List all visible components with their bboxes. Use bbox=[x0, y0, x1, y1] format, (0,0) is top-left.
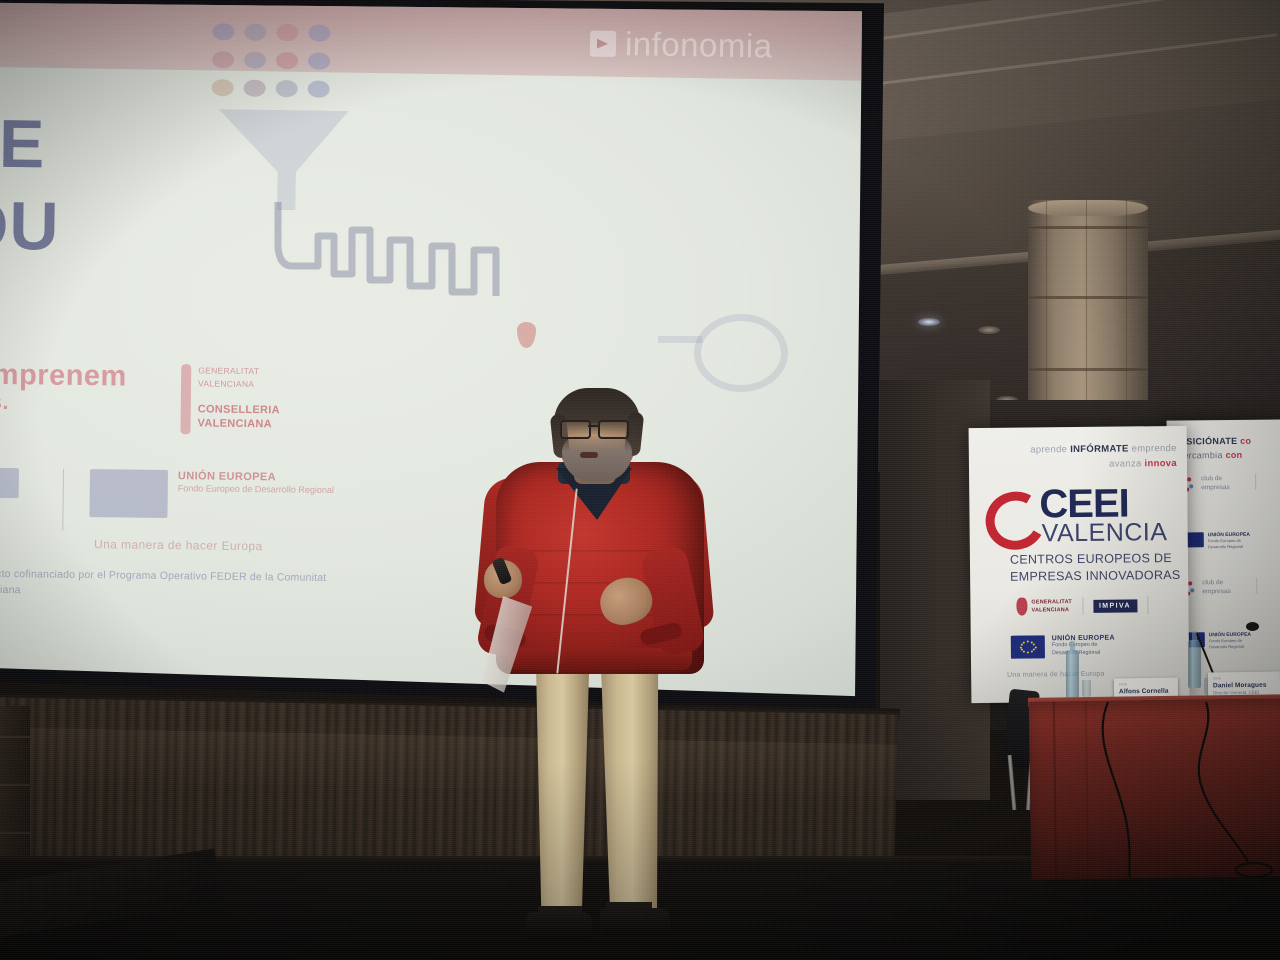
eyeglasses bbox=[560, 420, 636, 435]
shoe bbox=[600, 908, 670, 936]
shoe bbox=[526, 912, 592, 940]
speaker bbox=[0, 0, 1280, 960]
trouser-leg bbox=[532, 640, 590, 912]
trouser-leg bbox=[600, 640, 662, 908]
eyeglass-lens bbox=[560, 420, 591, 439]
eyeglass-lens bbox=[598, 420, 629, 439]
speaker-legs bbox=[516, 640, 686, 940]
conference-photo: infonomia TE OU emprenem ns. GENERALITAT… bbox=[0, 0, 1280, 960]
mouth bbox=[580, 452, 598, 458]
eyeglass-bridge bbox=[588, 425, 598, 427]
